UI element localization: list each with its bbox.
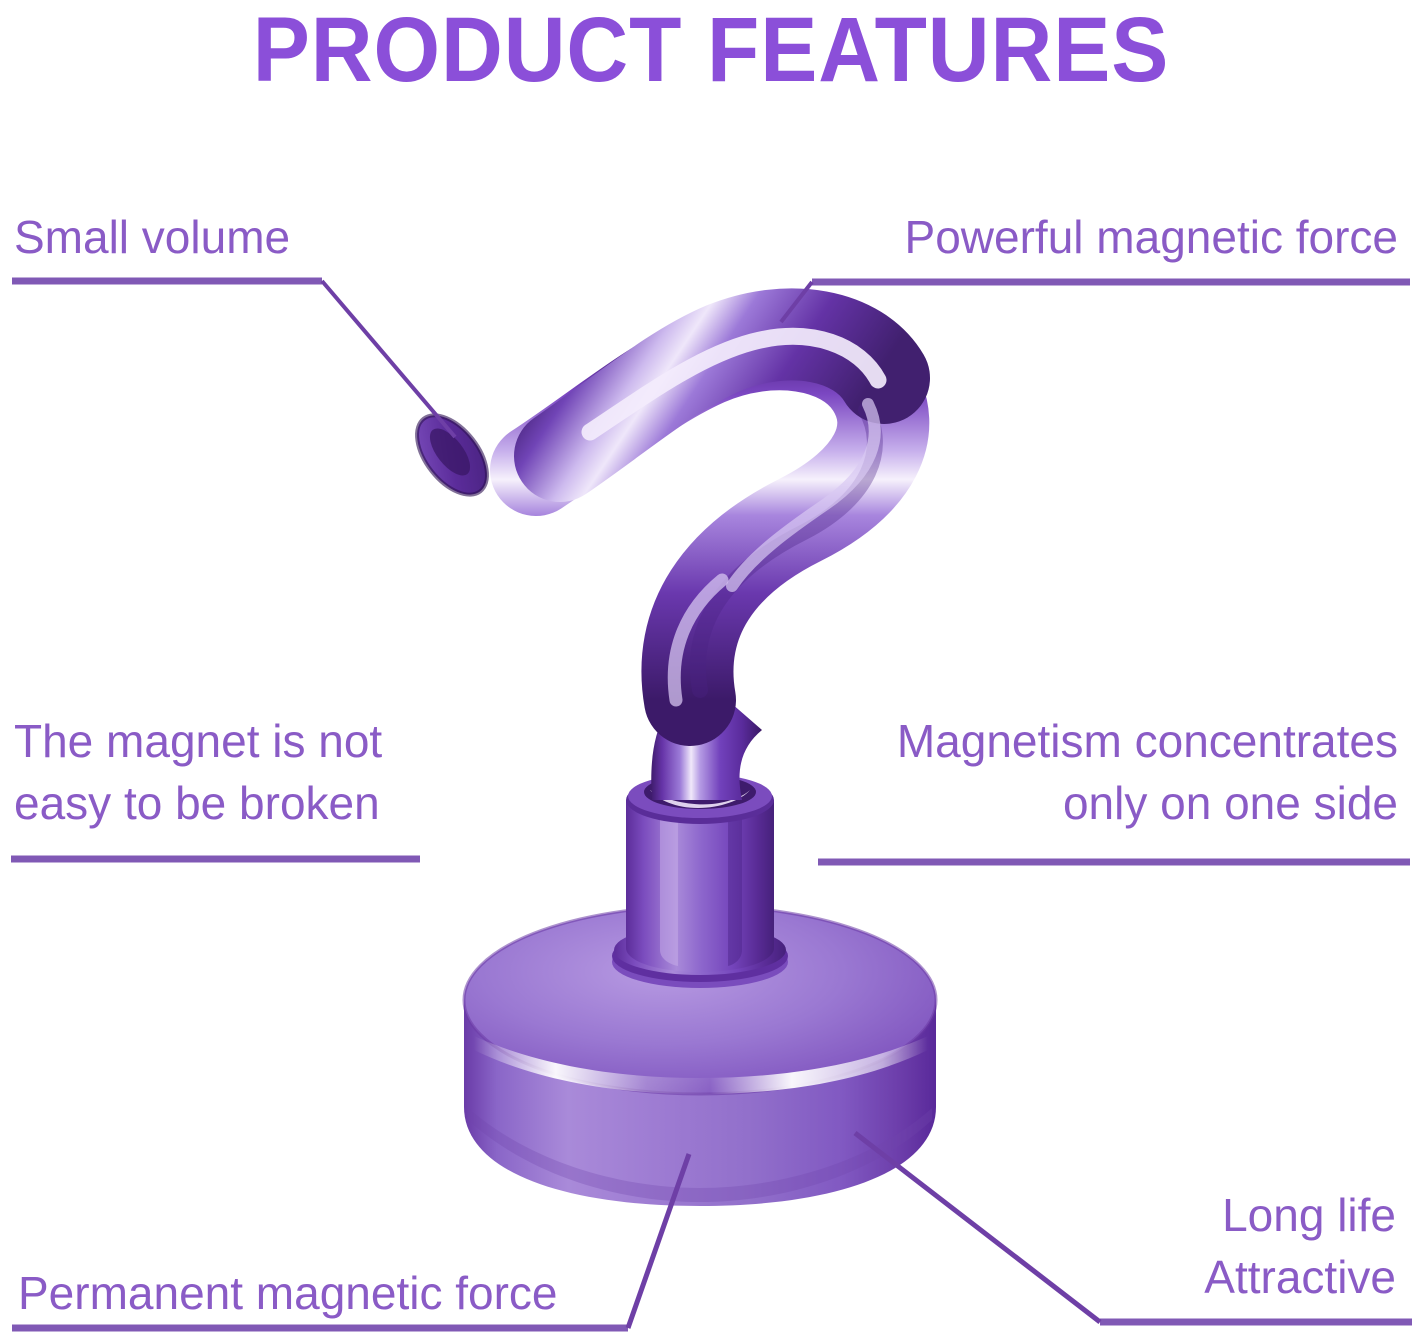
product-features-infographic: PRODUCT FEATURES <box>0 0 1422 1339</box>
leader-lines-group <box>0 0 1422 1339</box>
leader-permanent-magnetic-force <box>12 1154 689 1328</box>
leader-small-volume <box>12 281 455 437</box>
leader-powerful-magnetic-force <box>781 282 1410 322</box>
leader-long-life-attractive <box>855 1133 1412 1322</box>
